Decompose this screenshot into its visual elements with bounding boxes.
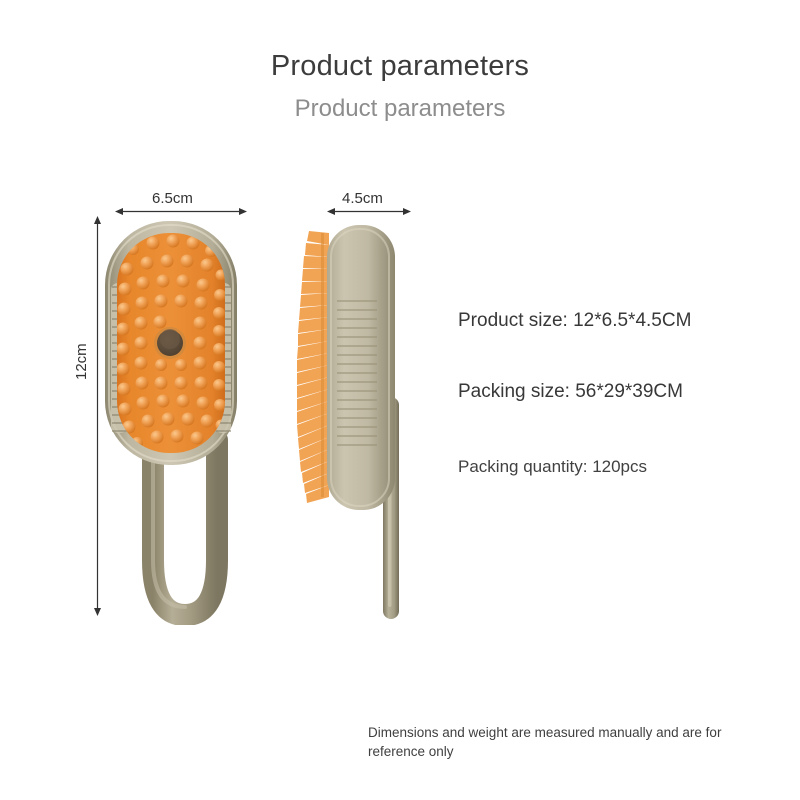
product-parameters-canvas: Product parameters Product parameters [0,0,800,800]
brush-bristles [297,231,329,503]
product-side-view [285,215,445,635]
silicone-pad [117,233,227,453]
page-subtitle: Product parameters [0,95,800,123]
brush-handle-loop [153,440,217,615]
dimension-label-front-width: 6.5cm [152,190,193,207]
spec-product-size: Product size: 12*6.5*4.5CM [458,310,691,332]
brush-body-side [327,225,395,510]
dimension-arrow-side-width [327,207,411,216]
dimension-arrow-front-height [93,216,102,616]
spec-packing-quantity: Packing quantity: 120pcs [458,457,647,477]
spec-packing-size: Packing size: 56*29*39CM [458,381,683,403]
dimension-label-side-width: 4.5cm [342,190,383,207]
product-front-view [95,215,265,625]
dimension-label-front-height: 12cm [73,343,90,380]
page-title: Product parameters [0,50,800,83]
measurement-disclaimer: Dimensions and weight are measured manua… [368,723,778,761]
dimension-arrow-front-width [115,207,247,216]
